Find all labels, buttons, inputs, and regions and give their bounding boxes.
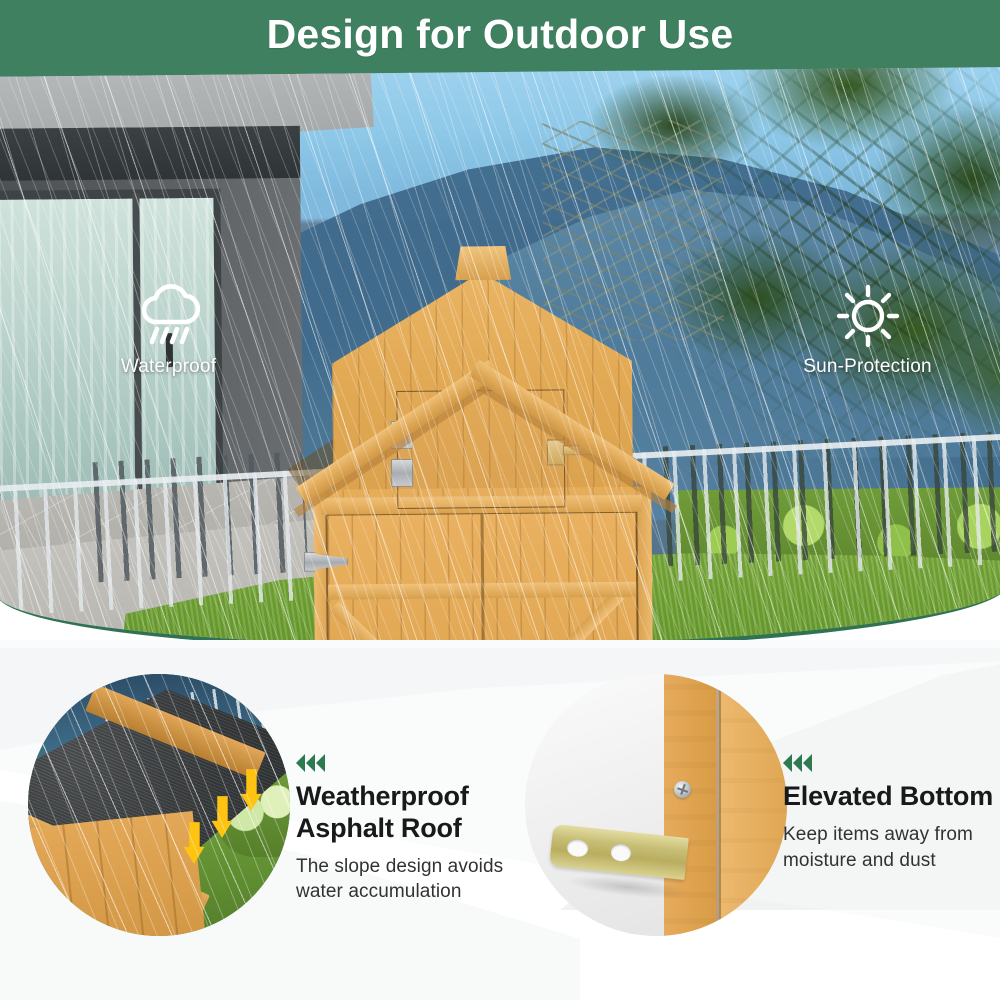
chevron-left-icon xyxy=(803,754,812,772)
garden-shed xyxy=(283,238,687,655)
feature-photo-elevated-bottom xyxy=(525,674,787,936)
chevron-left-icon xyxy=(296,754,305,772)
panel-groove xyxy=(716,674,721,936)
feature-card-weatherproof-asphalt-roof: Weatherproof Asphalt Roof The slope desi… xyxy=(10,658,500,988)
chevron-left-icon-group xyxy=(783,754,1000,772)
hero-feature-label: Waterproof xyxy=(76,356,261,378)
page-title: Design for Outdoor Use xyxy=(0,14,1000,55)
bracket-hole xyxy=(567,839,589,858)
hero-feature-label: Sun-Protection xyxy=(770,356,965,378)
feature-text-elevated-bottom: Elevated Bottom Keep items away from moi… xyxy=(783,754,1000,873)
house-soffit xyxy=(0,126,300,181)
hero-section: Design for Outdoor Use Waterproof xyxy=(0,0,1000,660)
chevron-left-icon xyxy=(793,754,802,772)
features-section: Weatherproof Asphalt Roof The slope desi… xyxy=(0,640,1000,1000)
feature-card-elevated-bottom: Elevated Bottom Keep items away from moi… xyxy=(505,658,995,988)
hero-feature-sun-protection: Sun-Protection xyxy=(770,282,965,378)
hatch-hinge-lower xyxy=(391,459,413,487)
feature-heading: Elevated Bottom xyxy=(783,781,1000,813)
product-infographic: Design for Outdoor Use Waterproof xyxy=(0,0,1000,1000)
chevron-left-icon xyxy=(306,754,315,772)
bracket-hole xyxy=(610,844,632,863)
sun-icon xyxy=(770,282,965,350)
feature-body: Keep items away from moisture and dust xyxy=(783,822,1000,873)
hero-feature-waterproof: Waterproof xyxy=(76,282,261,378)
roof-ridge-cap xyxy=(455,246,511,281)
feature-body: The slope design avoids water accumulati… xyxy=(296,854,526,905)
chevron-left-icon-group xyxy=(296,754,526,772)
feature-heading: Weatherproof Asphalt Roof xyxy=(296,781,526,845)
chevron-left-icon xyxy=(783,754,792,772)
chevron-left-icon xyxy=(316,754,325,772)
rain-cloud-icon xyxy=(76,282,261,350)
feature-text-weatherproof: Weatherproof Asphalt Roof The slope desi… xyxy=(296,754,526,905)
roof-photo-rain-overlay xyxy=(28,674,290,936)
shed-back-panel xyxy=(719,674,787,936)
feature-photo-asphalt-roof xyxy=(28,674,290,936)
